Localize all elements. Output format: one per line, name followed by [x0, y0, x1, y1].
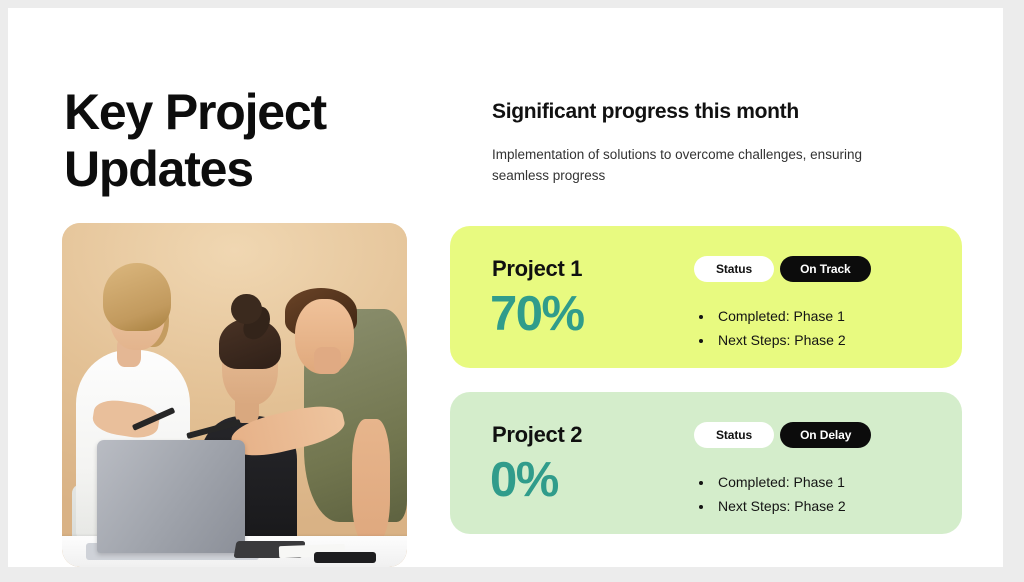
project-card-2[interactable]: Project 2 0% Status On Delay Completed: … [450, 392, 962, 534]
status-value-badge[interactable]: On Delay [780, 422, 871, 448]
project-progress-value: 70% [490, 288, 584, 340]
project-card-1[interactable]: Project 1 70% Status On Track Completed:… [450, 226, 962, 368]
status-row: Status On Track [694, 256, 871, 282]
person-right-neck [314, 347, 342, 375]
person-right-supporting-arm [352, 419, 390, 543]
section-subtitle: Implementation of solutions to overcome … [492, 144, 916, 186]
page-title: Key Project Updates [64, 84, 444, 198]
list-item: Next Steps: Phase 2 [714, 494, 846, 518]
project-name: Project 2 [492, 422, 582, 448]
person-left-hair [103, 263, 170, 332]
project-details-list: Completed: Phase 1 Next Steps: Phase 2 [698, 470, 846, 518]
project-name: Project 1 [492, 256, 582, 282]
list-item: Completed: Phase 1 [714, 470, 846, 494]
laptop-icon [97, 440, 245, 554]
status-row: Status On Delay [694, 422, 871, 448]
status-label-badge[interactable]: Status [694, 422, 774, 448]
status-label-badge[interactable]: Status [694, 256, 774, 282]
project-progress-value: 0% [490, 454, 558, 506]
team-photo [62, 223, 407, 567]
status-value-badge[interactable]: On Track [780, 256, 871, 282]
slide-canvas: Key Project Updates Significant progress… [8, 8, 1003, 567]
list-item: Completed: Phase 1 [714, 304, 846, 328]
phone-device [314, 552, 376, 563]
section-heading: Significant progress this month [492, 100, 799, 124]
project-details-list: Completed: Phase 1 Next Steps: Phase 2 [698, 304, 846, 352]
list-item: Next Steps: Phase 2 [714, 328, 846, 352]
